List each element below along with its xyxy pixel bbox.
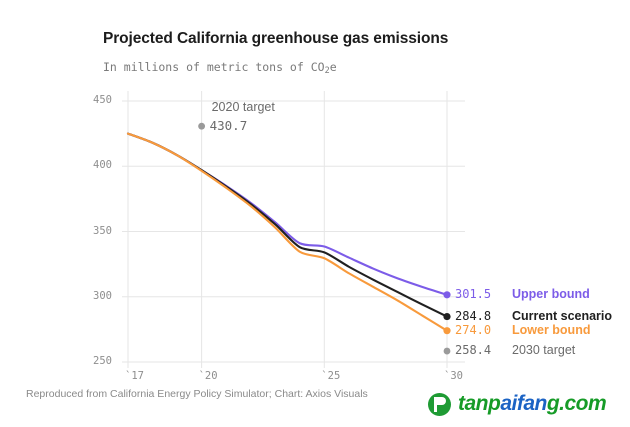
annotation-dot-2020-target <box>198 123 205 130</box>
end-label-current-scenario: Current scenario <box>512 309 612 323</box>
gridlines <box>122 91 465 368</box>
marker-dot-2030-target <box>444 348 451 355</box>
watermark-text-part1: tanp <box>458 392 500 415</box>
marker-label-2030-target: 2030 target <box>512 343 575 357</box>
plot-area: 450400350300250 `17`20`25`30 2020 target… <box>0 0 630 427</box>
footer-credit: Reproduced from California Energy Policy… <box>26 388 368 400</box>
line-upper-bound <box>128 134 447 295</box>
line-current-scenario <box>128 134 447 317</box>
line-lower-bound <box>128 134 447 331</box>
end-value-current-scenario: 284.8 <box>455 309 491 323</box>
watermark: tanpaifang.com <box>428 392 606 416</box>
marker-value-2030-target: 258.4 <box>455 343 491 357</box>
endpoint-dot-current-scenario <box>443 313 450 320</box>
annotation-2020-target-value: 430.7 <box>210 118 248 133</box>
x-tick-2030: `30 <box>444 370 463 382</box>
y-tick-300: 300 <box>82 290 112 302</box>
x-tick-2017: `17 <box>125 370 144 382</box>
y-tick-450: 450 <box>82 94 112 106</box>
y-tick-400: 400 <box>82 159 112 171</box>
endpoint-dot-lower-bound <box>443 327 450 334</box>
tanpaifang-logo-icon <box>428 393 451 416</box>
annotation-2020-target-label: 2020 target <box>212 100 275 114</box>
x-tick-2025: `25 <box>321 370 340 382</box>
watermark-text-part2: aifan <box>500 392 547 415</box>
watermark-text: tanpaifang.com <box>458 392 606 416</box>
chart-card: Projected California greenhouse gas emis… <box>0 0 630 427</box>
y-tick-350: 350 <box>82 225 112 237</box>
watermark-text-part3: g.com <box>547 392 606 415</box>
endpoint-dot-upper-bound <box>443 291 450 298</box>
end-label-upper-bound: Upper bound <box>512 287 590 301</box>
series-lines <box>128 134 447 331</box>
end-value-lower-bound: 274.0 <box>455 323 491 337</box>
y-tick-250: 250 <box>82 355 112 367</box>
x-tick-2020: `20 <box>199 370 218 382</box>
end-label-lower-bound: Lower bound <box>512 323 590 337</box>
end-value-upper-bound: 301.5 <box>455 287 491 301</box>
